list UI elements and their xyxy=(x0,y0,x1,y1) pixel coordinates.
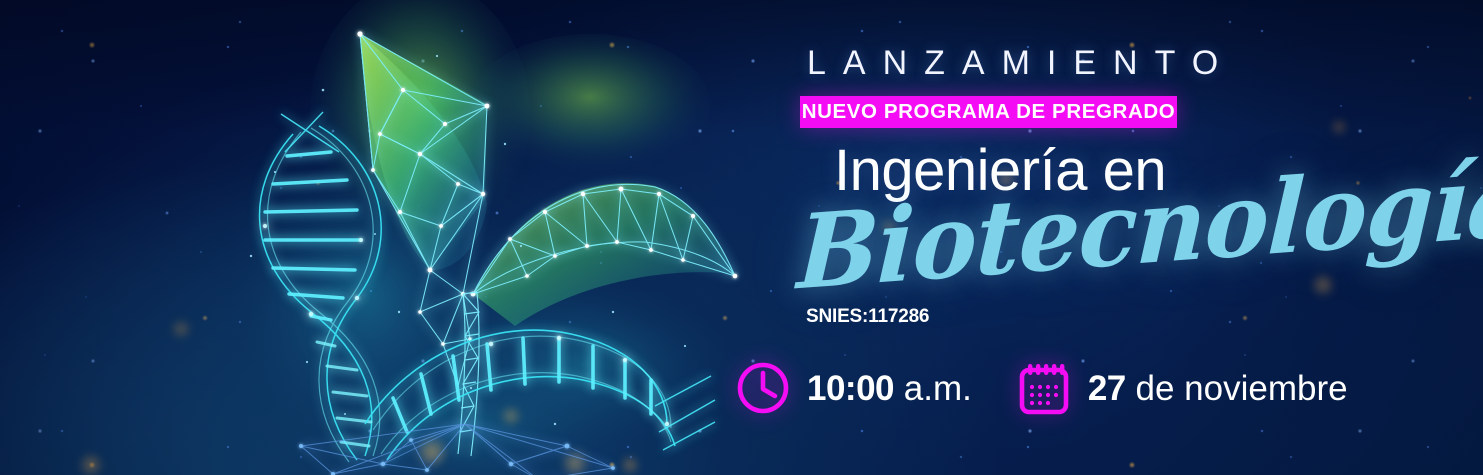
program-badge-label: NUEVO PROGRAMA DE PREGRADO xyxy=(802,100,1176,124)
event-date-value: 27 xyxy=(1088,369,1126,408)
program-badge: NUEVO PROGRAMA DE PREGRADO xyxy=(800,96,1177,128)
content-column: LANZAMIENTO NUEVO PROGRAMA DE PREGRADO I… xyxy=(800,0,1360,475)
event-info-row: 10:00 a.m. xyxy=(735,360,1348,416)
event-date-suffix: de noviembre xyxy=(1136,369,1348,408)
snies-code: SNIES:117286 xyxy=(806,306,929,328)
event-time-value: 10:00 xyxy=(807,369,894,408)
event-time: 10:00 a.m. xyxy=(735,360,972,416)
promo-banner: LANZAMIENTO NUEVO PROGRAMA DE PREGRADO I… xyxy=(0,0,1483,475)
event-date-text: 27 de noviembre xyxy=(1088,371,1348,406)
clock-icon xyxy=(735,360,791,416)
dna-plant-illustration xyxy=(215,0,745,475)
event-date: 27 de noviembre xyxy=(1016,360,1348,416)
calendar-icon xyxy=(1016,360,1072,416)
kicker-lanzamiento: LANZAMIENTO xyxy=(807,44,1235,83)
event-time-suffix: a.m. xyxy=(904,369,972,408)
event-time-text: 10:00 a.m. xyxy=(807,371,972,406)
